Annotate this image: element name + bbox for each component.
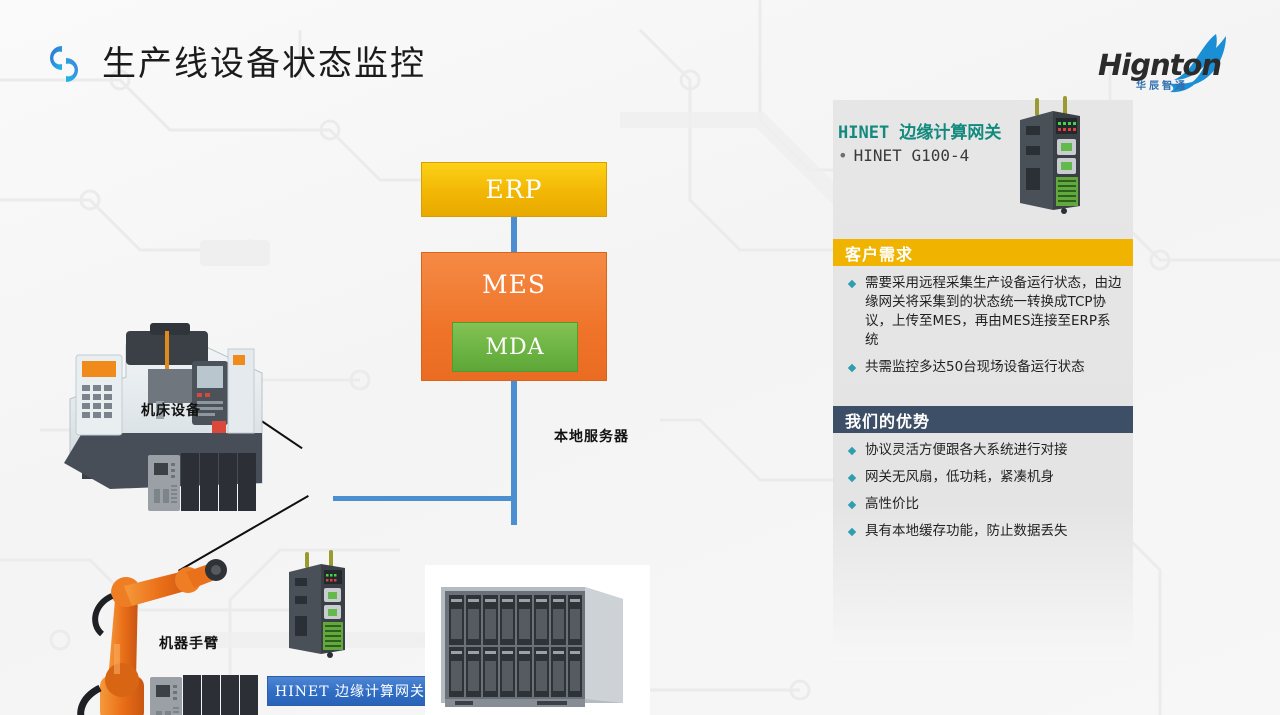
slide-root: 生产线设备状态监控 Hignton 华辰智通 ERP MES MD [0,0,1280,715]
node-mes-label: MES [482,270,546,299]
brand-subtitle: 华辰智通 [1136,77,1188,92]
caption-robot-arm: 机器手臂 [159,633,219,653]
list-item: 高性价比 [843,495,1123,514]
advantages-panel: 我们的优势 协议灵活方便跟各大系统进行对接 网关无风扇，低功耗，紧凑机身 高性价… [833,406,1133,555]
plc-cabinet-photo [150,673,262,715]
list-item: 具有本地缓存功能，防止数据丢失 [843,522,1123,541]
edge-gateway-photo [1015,96,1085,218]
product-model-line: •HINET G100-4 [838,146,969,165]
requirements-panel: 客户需求 需要采用远程采集生产设备运行状态，由边缘网关将采集到的状态统一转换成T… [833,239,1133,391]
blade-server-photo [425,565,650,715]
advantages-list: 协议灵活方便跟各大系统进行对接 网关无风扇，低功耗，紧凑机身 高性价比 具有本地… [833,433,1133,555]
advantages-heading: 我们的优势 [833,406,1133,433]
interlocking-rings-logo-icon [38,38,90,90]
bullet-dot-icon: • [838,146,848,165]
plc-cabinet-photo [148,451,260,513]
gateway-tag-text: HINET 边缘计算网关 [275,681,425,701]
node-erp[interactable]: ERP [421,162,607,217]
list-item: 共需监控多达50台现场设备运行状态 [843,358,1123,377]
list-item: 需要采用远程采集生产设备运行状态，由边缘网关将采集到的状态统一转换成TCP协议，… [843,274,1123,350]
gateway-tag-label[interactable]: HINET 边缘计算网关 [267,676,433,706]
brand-name: Hignton [1098,51,1226,80]
link-erp-mes [511,216,517,254]
architecture-diagram: ERP MES MDA [0,118,830,715]
link-mes-server [511,380,517,525]
requirements-heading: 客户需求 [833,239,1133,266]
brand-logo: Hignton 华辰智通 [1098,28,1246,94]
edge-gateway-photo [283,550,351,662]
product-model: HINET G100-4 [854,146,970,165]
caption-local-server: 本地服务器 [554,426,629,446]
node-mda[interactable]: MDA [452,322,578,372]
node-mda-label: MDA [485,335,544,360]
list-item: 网关无风扇，低功耗，紧凑机身 [843,468,1123,487]
node-erp-label: ERP [486,175,543,204]
requirements-list: 需要采用远程采集生产设备运行状态，由边缘网关将采集到的状态统一转换成TCP协议，… [833,266,1133,391]
page-title: 生产线设备状态监控 [102,38,426,90]
link-gateway-server [333,496,513,501]
caption-machine-tool: 机床设备 [141,400,201,420]
product-title: HINET 边缘计算网关 [838,118,1001,143]
list-item: 协议灵活方便跟各大系统进行对接 [843,441,1123,460]
